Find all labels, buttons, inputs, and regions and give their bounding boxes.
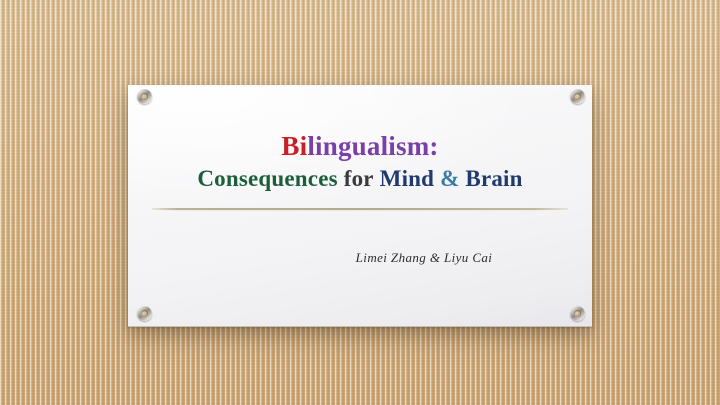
white-slide-panel bbox=[128, 85, 592, 327]
title-word-mind: Mind bbox=[380, 166, 434, 191]
title-divider-rule bbox=[152, 208, 568, 211]
title-word-lingualism: lingualism: bbox=[307, 131, 438, 161]
screw-icon-top-left bbox=[137, 89, 152, 104]
screw-icon-top-right bbox=[570, 89, 585, 104]
slide-title-line-2: Consequences for Mind & Brain bbox=[128, 165, 592, 193]
slide-title-line-1: Bilingualism: bbox=[128, 131, 592, 162]
title-ampersand: & bbox=[434, 166, 465, 191]
screw-icon-bottom-left bbox=[137, 306, 152, 321]
slide-title-block: Bilingualism: Consequences for Mind & Br… bbox=[128, 131, 592, 193]
title-word-for: for bbox=[338, 166, 380, 191]
title-word-bi: Bi bbox=[281, 131, 307, 161]
presentation-slide: Bilingualism: Consequences for Mind & Br… bbox=[0, 0, 720, 405]
panel-sheen-overlay bbox=[128, 86, 592, 326]
title-word-brain: Brain bbox=[465, 166, 522, 191]
screw-icon-bottom-right bbox=[570, 306, 585, 321]
title-word-consequences: Consequences bbox=[197, 166, 337, 191]
author-byline: Limei Zhang & Liyu Cai bbox=[128, 249, 592, 266]
